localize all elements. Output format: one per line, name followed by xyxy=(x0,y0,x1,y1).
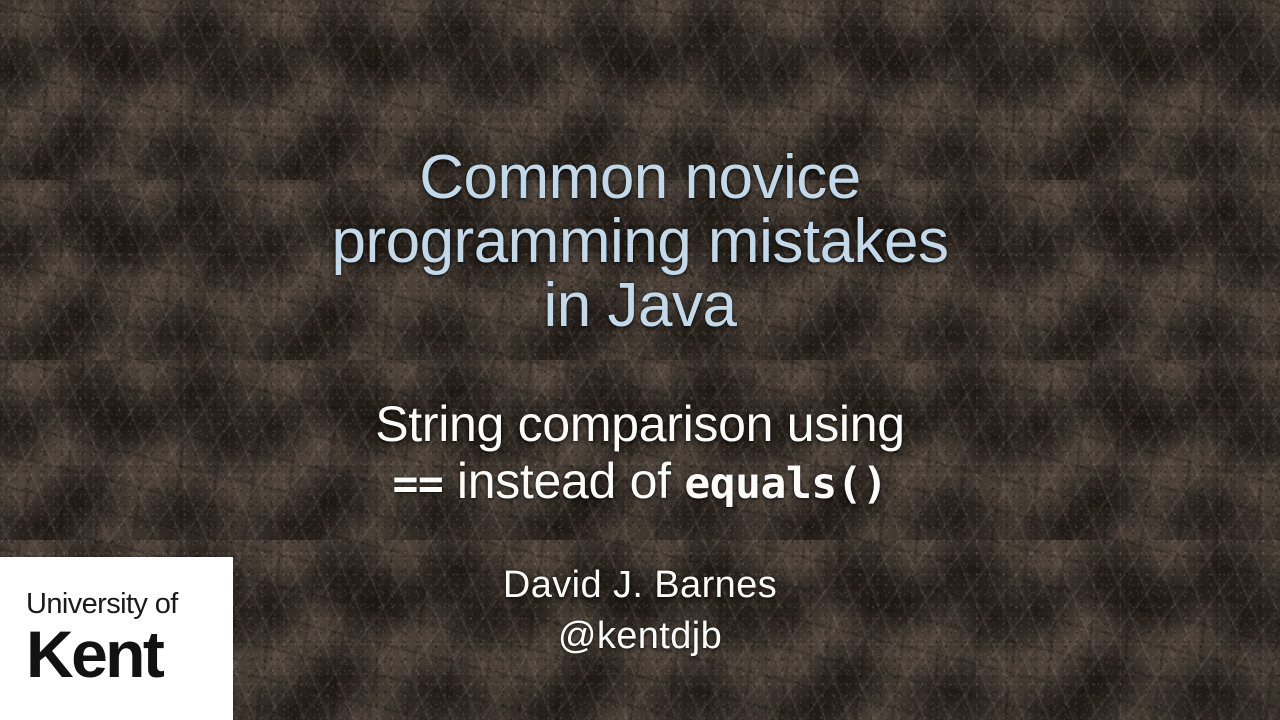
title-line-1: Common novice xyxy=(0,146,1280,210)
logo-line-university-of: University of xyxy=(26,590,233,619)
slide-title: Common novice programming mistakes in Ja… xyxy=(0,146,1280,338)
logo-line-kent: Kent xyxy=(26,621,233,687)
title-line-2: programming mistakes xyxy=(0,210,1280,274)
university-of-kent-logo: University of Kent xyxy=(0,557,233,720)
title-line-3: in Java xyxy=(0,274,1280,338)
subtitle-operator-code: == xyxy=(393,459,444,509)
slide-subtitle: String comparison using == instead of eq… xyxy=(0,396,1280,510)
subtitle-connector-text: instead of xyxy=(443,453,684,509)
subtitle-line-1: String comparison using xyxy=(0,396,1280,453)
slide-canvas: Common novice programming mistakes in Ja… xyxy=(0,0,1280,720)
subtitle-method-code: equals() xyxy=(684,459,887,509)
subtitle-line-2: == instead of equals() xyxy=(0,453,1280,510)
